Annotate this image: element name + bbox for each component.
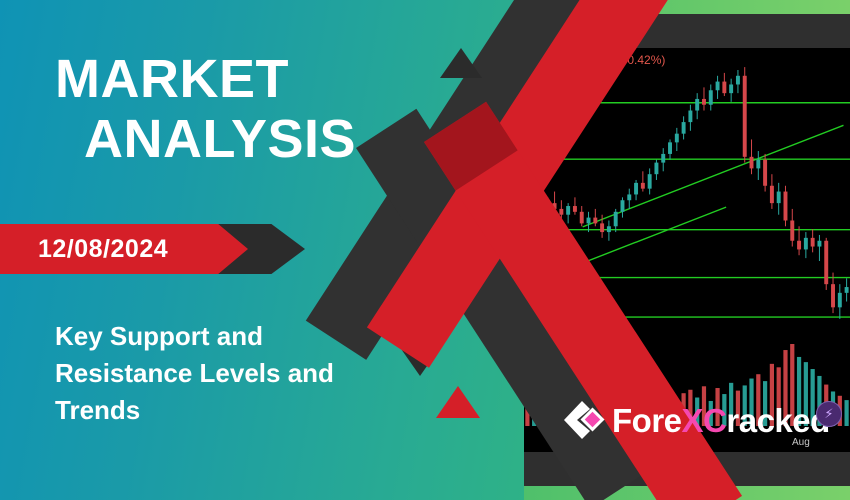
date-banner: 12/08/2024	[0, 224, 305, 274]
candle-body-29	[722, 82, 726, 94]
date-banner-body: 12/08/2024	[0, 224, 248, 274]
candle-body-43	[817, 241, 821, 247]
logo-text-fore: Fore	[612, 402, 682, 439]
candle-body-32	[743, 76, 747, 157]
candle-body-42	[811, 238, 815, 247]
candle-body-38	[784, 192, 788, 221]
candle-body-37	[777, 192, 781, 204]
subtitle-text: Key Support and Resistance Levels and Tr…	[55, 318, 375, 429]
candle-body-40	[797, 241, 801, 250]
logo-chevron-diamond-icon	[562, 398, 606, 442]
date-text: 12/08/2024	[38, 235, 168, 264]
title-line-analysis: ANALYSIS	[55, 112, 385, 166]
candle-body-34	[756, 160, 760, 169]
candle-body-46	[838, 293, 842, 307]
candle-body-30	[729, 84, 733, 93]
logo-badge-icon: ⚡	[816, 401, 842, 427]
candle-body-41	[804, 238, 808, 250]
volume-bar-47	[844, 400, 848, 426]
candle-body-36	[770, 186, 774, 203]
candle-body-33	[750, 157, 754, 169]
candle-body-39	[790, 220, 794, 240]
candle-body-35	[763, 160, 767, 186]
candle-body-47	[845, 287, 849, 293]
candle-body-45	[831, 284, 835, 307]
candle-body-31	[736, 76, 740, 85]
logo-wordmark: ForeXCracked	[612, 404, 830, 437]
page-title: MARKET ANALYSIS	[55, 52, 385, 166]
logo-text-racked: racked	[726, 402, 829, 439]
logo-text-c: C	[703, 402, 726, 439]
candle-body-44	[824, 241, 828, 284]
forexcracked-logo[interactable]: ForeXCracked ⚡	[562, 398, 830, 442]
logo-text-x: X	[682, 402, 704, 439]
title-line-market: MARKET	[55, 52, 385, 106]
market-analysis-banner: 823 (-0.42%) Jun Jul Aug MARKET ANALYSIS…	[0, 0, 850, 500]
